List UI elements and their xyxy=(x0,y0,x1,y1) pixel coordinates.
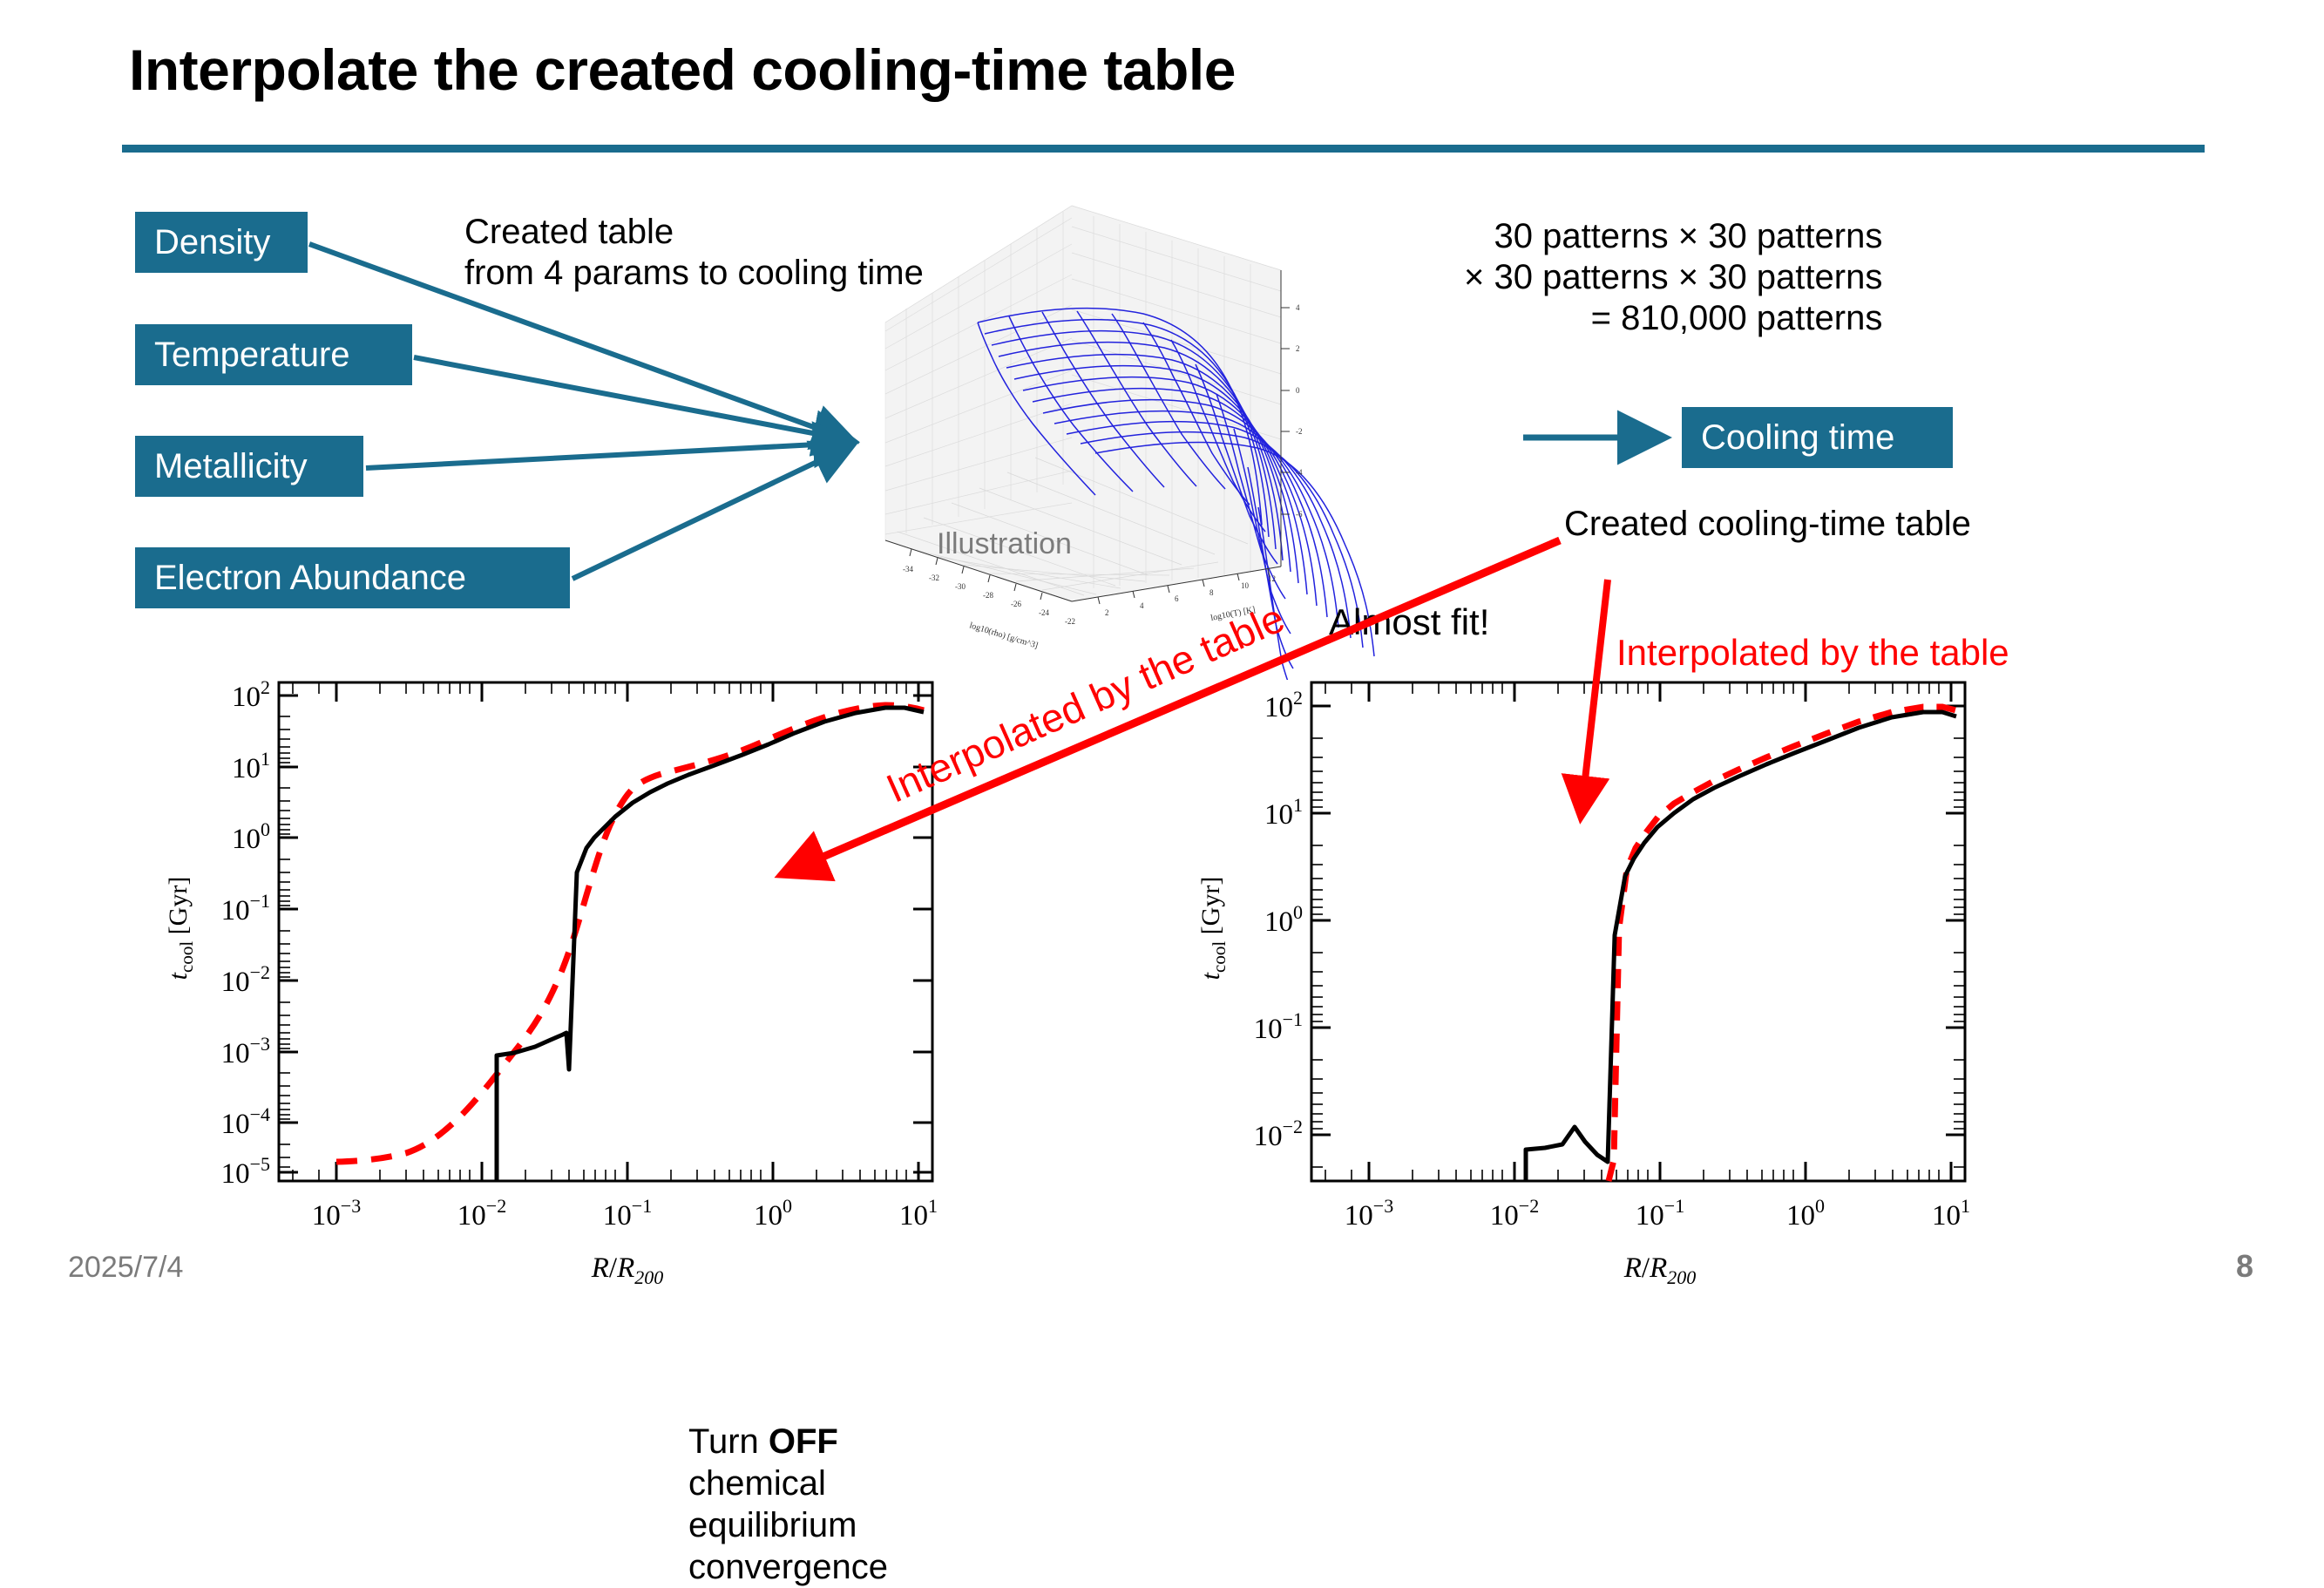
param-label: Electron Abundance xyxy=(154,560,466,595)
created-table-note: Created table from 4 params to cooling t… xyxy=(464,212,924,294)
svg-text:100: 100 xyxy=(232,818,270,855)
svg-text:2: 2 xyxy=(1296,344,1300,353)
chart-left-ylabel: tcool [Gyr] xyxy=(164,877,197,981)
svg-text:-2: -2 xyxy=(1296,427,1303,436)
svg-text:0: 0 xyxy=(1296,386,1300,395)
param-label: Density xyxy=(154,225,270,260)
svg-text:10−2: 10−2 xyxy=(1490,1195,1539,1232)
svg-text:-30: -30 xyxy=(955,582,966,591)
chart-right-panel: 102 101 100 10−1 10−2 10−3 10−2 10−1 100… xyxy=(1181,667,2035,1294)
svg-text:101: 101 xyxy=(1264,794,1303,831)
cooling-time-box[interactable]: Cooling time xyxy=(1682,407,1953,468)
chart-right-ylabel: tcool [Gyr] xyxy=(1196,877,1230,981)
caption-emphasis: OFF xyxy=(769,1422,838,1461)
svg-text:10−4: 10−4 xyxy=(221,1103,270,1140)
illustration-watermark: Illustration xyxy=(937,527,1072,561)
created-cooling-table-note: Created cooling-time table xyxy=(1564,504,1971,545)
svg-text:10−1: 10−1 xyxy=(603,1195,652,1232)
svg-text:6: 6 xyxy=(1175,594,1179,603)
svg-text:4: 4 xyxy=(1140,601,1144,610)
chart-left-caption: Turn OFF chemical equilibrium convergenc… xyxy=(688,1421,888,1588)
svg-text:2: 2 xyxy=(1105,608,1109,617)
patterns-count-note: 30 patterns × 30 patterns × 30 patterns … xyxy=(1464,216,1882,340)
connector-electron-abundance xyxy=(573,446,850,579)
almost-fit-note: Almost fit! xyxy=(1329,601,1489,643)
svg-text:10−2: 10−2 xyxy=(457,1195,506,1232)
svg-text:-24: -24 xyxy=(1039,608,1049,617)
svg-text:-26: -26 xyxy=(1011,600,1021,608)
svg-text:8: 8 xyxy=(1209,588,1214,597)
svg-text:-28: -28 xyxy=(983,591,993,600)
connector-temperature xyxy=(414,357,850,440)
chart-left-panel: 102 101 100 10−1 10−2 10−3 10−4 10−5 10−… xyxy=(148,667,1002,1294)
page-title: Interpolate the created cooling-time tab… xyxy=(129,37,1236,103)
svg-text:10−3: 10−3 xyxy=(1345,1195,1393,1232)
chart-right-xlabel: R/R200 xyxy=(1623,1252,1697,1288)
svg-text:4: 4 xyxy=(1296,303,1300,312)
svg-text:10−3: 10−3 xyxy=(221,1033,270,1069)
svg-text:102: 102 xyxy=(232,676,270,713)
svg-text:10−2: 10−2 xyxy=(221,961,270,998)
chart-left-svg: 102 101 100 10−1 10−2 10−3 10−4 10−5 10−… xyxy=(148,667,1002,1294)
param-box-metallicity[interactable]: Metallicity xyxy=(135,436,363,497)
svg-text:10−3: 10−3 xyxy=(312,1195,361,1232)
svg-text:-22: -22 xyxy=(1065,617,1075,626)
svg-text:10−1: 10−1 xyxy=(221,890,270,926)
title-divider xyxy=(122,145,2205,153)
surface-xlabel: log10(rho) [g/cm^3] xyxy=(968,621,1039,650)
svg-text:100: 100 xyxy=(1264,901,1303,938)
svg-text:101: 101 xyxy=(1932,1195,1970,1232)
svg-text:-34: -34 xyxy=(903,565,913,573)
cooling-time-label: Cooling time xyxy=(1701,420,1894,455)
connector-metallicity xyxy=(366,443,850,468)
svg-text:-4: -4 xyxy=(1296,468,1303,477)
svg-text:-32: -32 xyxy=(929,573,939,582)
svg-text:101: 101 xyxy=(899,1195,938,1232)
footer-date: 2025/7/4 xyxy=(68,1251,183,1285)
footer-page-number: 8 xyxy=(2236,1248,2253,1285)
svg-text:-6: -6 xyxy=(1296,510,1303,519)
svg-text:101: 101 xyxy=(232,748,270,784)
param-box-density[interactable]: Density xyxy=(135,212,308,273)
svg-text:10: 10 xyxy=(1241,581,1250,590)
param-label: Temperature xyxy=(154,337,350,372)
param-box-temperature[interactable]: Temperature xyxy=(135,324,412,385)
svg-text:10−1: 10−1 xyxy=(1636,1195,1684,1232)
param-label: Metallicity xyxy=(154,449,308,484)
param-box-electron-abundance[interactable]: Electron Abundance xyxy=(135,547,570,608)
chart-right-svg: 102 101 100 10−1 10−2 10−3 10−2 10−1 100… xyxy=(1181,667,2035,1294)
svg-text:10−2: 10−2 xyxy=(1254,1116,1303,1152)
svg-text:12: 12 xyxy=(1268,574,1276,583)
interpolated-right-label: Interpolated by the table xyxy=(1616,632,2009,674)
svg-text:10−1: 10−1 xyxy=(1254,1008,1303,1045)
svg-text:10−5: 10−5 xyxy=(221,1153,270,1190)
chart-left-xlabel: R/R200 xyxy=(591,1252,664,1288)
svg-text:100: 100 xyxy=(1786,1195,1825,1232)
svg-text:100: 100 xyxy=(754,1195,792,1232)
svg-text:102: 102 xyxy=(1264,687,1303,723)
